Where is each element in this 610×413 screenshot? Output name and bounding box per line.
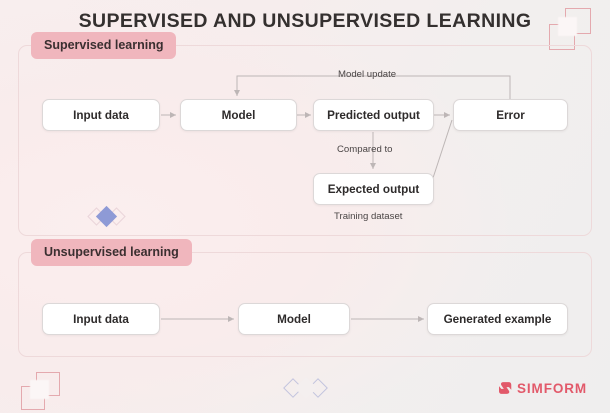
node-u-input-data[interactable]: Input data — [42, 303, 160, 335]
node-error[interactable]: Error — [453, 99, 568, 131]
flow-connectors — [0, 0, 610, 413]
node-input-data[interactable]: Input data — [42, 99, 160, 131]
brand-name: SIMFORM — [517, 381, 587, 396]
infographic-canvas: SUPERVISED AND UNSUPERVISED LEARNING Sup… — [0, 0, 610, 413]
node-expected-output[interactable]: Expected output — [313, 173, 434, 205]
node-u-model[interactable]: Model — [238, 303, 350, 335]
edge-label-model-update: Model update — [338, 69, 396, 80]
node-predicted-output[interactable]: Predicted output — [313, 99, 434, 131]
simform-logo: SIMFORM — [497, 380, 587, 396]
node-model[interactable]: Model — [180, 99, 297, 131]
node-generated-example[interactable]: Generated example — [427, 303, 568, 335]
simform-s-mark-icon — [497, 380, 513, 396]
edge-label-compared-to: Compared to — [337, 144, 392, 155]
edge-expected-to-error — [433, 120, 452, 178]
caption-training-dataset: Training dataset — [334, 211, 402, 222]
